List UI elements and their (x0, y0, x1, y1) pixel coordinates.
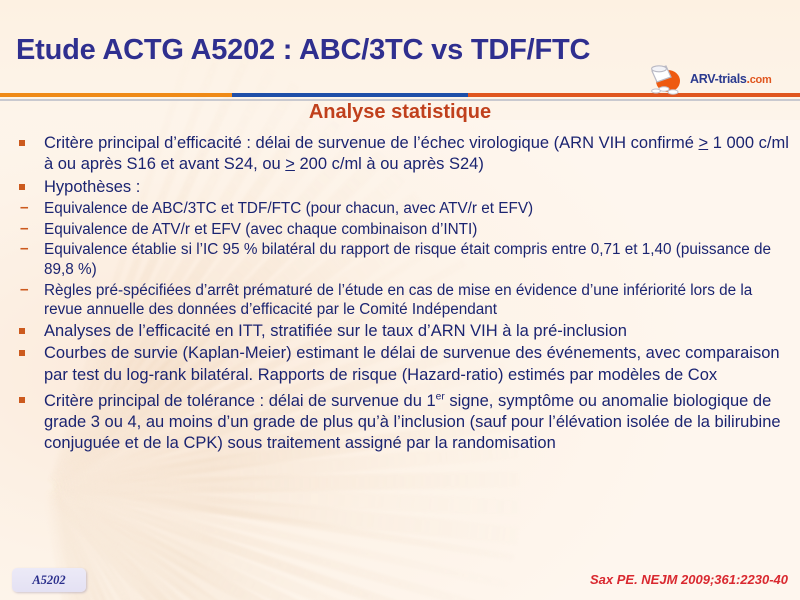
slide-canvas: Etude ACTG A5202 : ABC/3TC vs TDF/FTC AR… (0, 0, 800, 600)
text-run: Courbes de survie (Kaplan-Meier) estiman… (44, 344, 780, 383)
sub-bullet-container: –Equivalence de ABC/3TC et TDF/FTC (pour… (14, 199, 794, 319)
text-run: Critère principal d’efficacité : délai d… (44, 134, 699, 152)
dash-bullet-icon: – (20, 280, 29, 300)
page-title: Etude ACTG A5202 : ABC/3TC vs TDF/FTC (16, 34, 590, 67)
bullet-item-critere-principal-efficacite: Critère principal d’efficacité : délai d… (14, 133, 794, 176)
sub-bullet-item-3: –Equivalence établie si l’IC 95 % bilaté… (14, 240, 794, 279)
bullet-text: Analyses de l’efficacité en ITT, stratif… (44, 322, 627, 340)
sub-bullet-item-1: –Equivalence de ABC/3TC et TDF/FTC (pour… (14, 199, 794, 219)
bullet-item-hypotheses: Hypothèses : (14, 177, 794, 198)
sub-bullet-item-4: –Règles pré-spécifiées d’arrêt prématuré… (14, 281, 794, 320)
square-bullet-icon (19, 397, 25, 403)
greater-or-equal-symbol: > (699, 134, 709, 152)
text-run: Hypothèses : (44, 178, 140, 196)
slide-subtitle: Analyse statistique (0, 101, 800, 124)
square-bullet-icon (19, 140, 25, 146)
dash-bullet-icon: – (20, 219, 29, 239)
bullet-text: Courbes de survie (Kaplan-Meier) estiman… (44, 344, 780, 383)
text-run: Critère principal de tolérance : délai d… (44, 392, 436, 410)
sub-bullet-text: Equivalence de ABC/3TC et TDF/FTC (pour … (44, 200, 533, 217)
bullet-item-critere-principal-tolerance: Critère principal de tolérance : délai d… (14, 390, 794, 455)
bullet-text: Critère principal de tolérance : délai d… (44, 392, 781, 453)
text-run: 200 c/ml à ou après S24) (295, 155, 484, 173)
bullet-list: Critère principal d’efficacité : délai d… (14, 133, 794, 455)
divider-segment-left (0, 93, 232, 97)
sub-bullet-text: Equivalence établie si l’IC 95 % bilatér… (44, 241, 771, 278)
bullet-item-analyses-efficacite-itt: Analyses de l’efficacité en ITT, stratif… (14, 321, 794, 342)
slide-body: Critère principal d’efficacité : délai d… (14, 133, 794, 456)
text-run: Analyses de l’efficacité en ITT, stratif… (44, 322, 627, 340)
logo-text-tld: com (750, 74, 772, 86)
logo-text-main: ARV-trials (690, 72, 747, 86)
sub-bullet-text: Règles pré-spécifiées d’arrêt prématuré … (44, 282, 752, 319)
arv-trials-logo[interactable]: ARV-trials.com (646, 70, 794, 96)
citation-reference: Sax PE. NEJM 2009;361:2230-40 (590, 572, 788, 587)
bullet-text: Critère principal d’efficacité : délai d… (44, 134, 789, 173)
sub-bullet-list: –Equivalence de ABC/3TC et TDF/FTC (pour… (14, 199, 794, 319)
sub-bullet-item-2: –Equivalence de ATV/r et EFV (avec chaqu… (14, 220, 794, 240)
square-bullet-icon (19, 184, 25, 190)
dash-bullet-icon: – (20, 239, 29, 259)
divider-segment-middle (232, 93, 468, 97)
sub-bullet-text: Equivalence de ATV/r et EFV (avec chaque… (44, 221, 477, 238)
greater-or-equal-symbol: > (285, 155, 295, 173)
dash-bullet-icon: – (20, 198, 29, 218)
square-bullet-icon (19, 328, 25, 334)
study-badge: A5202 (12, 568, 86, 592)
logo-wordmark: ARV-trials.com (690, 72, 771, 86)
bullet-item-courbes-de-survie: Courbes de survie (Kaplan-Meier) estiman… (14, 343, 794, 386)
ordinal-suffix: er (436, 391, 445, 402)
bullet-text: Hypothèses : (44, 178, 140, 196)
square-bullet-icon (19, 350, 25, 356)
